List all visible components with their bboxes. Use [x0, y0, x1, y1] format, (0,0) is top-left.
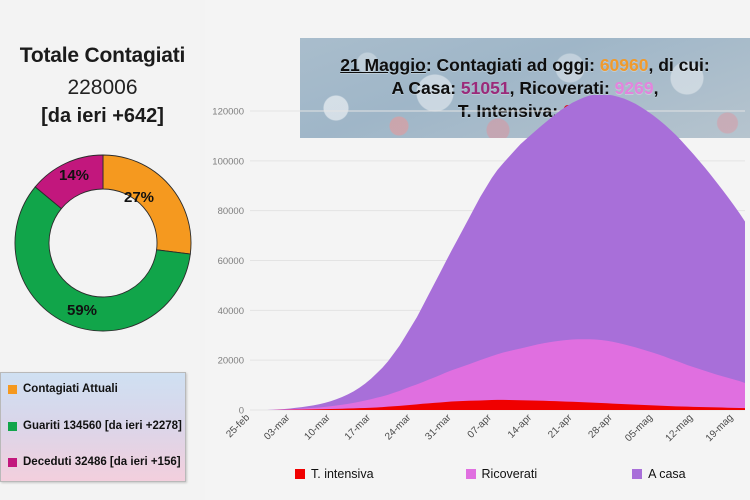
banner-line1-suffix: , di cui: [649, 55, 710, 75]
banner-total-today: 60960 [600, 55, 649, 75]
x-tick-label: 03-mar [262, 412, 293, 443]
x-tick-label: 31-mar [423, 412, 454, 443]
banner-line-1: 21 Maggio: Contagiati ad oggi: 60960, di… [340, 55, 710, 76]
x-tick-label: 10-mar [303, 412, 334, 443]
chart-legend-swatch-purple [632, 469, 642, 479]
donut-label-guariti: 59% [67, 302, 97, 319]
donut-label-contagiati: 27% [124, 189, 154, 206]
x-tick-label: 05-mag [623, 412, 655, 444]
x-tick-label: 14-apr [506, 412, 535, 441]
y-axis-tick-labels: 020000400006000080000100000120000 [212, 107, 244, 417]
chart-legend: T. intensiva Ricoverati A casa [295, 463, 715, 485]
y-tick-label: 20000 [218, 356, 244, 367]
legend-item-contagiati: Contagiati Attuali [8, 383, 118, 395]
stacked-area-chart: 020000400006000080000100000120000 25-feb… [205, 95, 750, 500]
area-chart-svg: 020000400006000080000100000120000 25-feb… [205, 95, 750, 500]
covid-dashboard: Totale Contagiati 228006 [da ieri +642] … [0, 0, 750, 500]
x-tick-label: 24-mar [383, 412, 414, 443]
legend-label-deceduti: Deceduti 32486 [da ieri +156] [23, 456, 181, 468]
x-tick-label: 21-apr [546, 412, 575, 441]
legend-swatch-magenta [8, 458, 17, 467]
y-tick-label: 40000 [218, 306, 244, 317]
y-tick-label: 120000 [212, 107, 244, 118]
chart-legend-item-acasa: A casa [632, 467, 686, 481]
chart-legend-item-intensiva: T. intensiva [295, 467, 374, 481]
chart-legend-label-ricoverati: Ricoverati [482, 467, 538, 481]
total-cases-delta: [da ieri +642] [0, 105, 205, 128]
area-series-group [250, 95, 745, 410]
chart-legend-swatch-red [295, 469, 305, 479]
chart-legend-swatch-pink [466, 469, 476, 479]
summary-panel: Totale Contagiati 228006 [da ieri +642] … [0, 0, 205, 500]
x-tick-label: 07-apr [466, 412, 495, 441]
legend-label-contagiati: Contagiati Attuali [23, 383, 118, 395]
legend-item-guariti: Guariti 134560 [da ieri +2278] [8, 420, 182, 432]
x-tick-label: 19-mag [704, 412, 736, 444]
donut-chart-svg: 27% 59% 14% [12, 142, 194, 340]
page-title: Totale Contagiati [0, 44, 205, 68]
chart-legend-label-acasa: A casa [648, 467, 686, 481]
legend-swatch-orange [8, 385, 17, 394]
banner-date: 21 Maggio [340, 55, 426, 75]
banner-line1-prefix: : Contagiati ad oggi: [426, 55, 600, 75]
y-tick-label: 100000 [212, 156, 244, 167]
donut-chart: 27% 59% 14% [12, 142, 194, 340]
x-axis-tick-labels: 25-feb03-mar10-mar17-mar24-mar31-mar07-a… [224, 412, 735, 444]
x-tick-label: 17-mar [343, 412, 374, 443]
legend-swatch-green [8, 422, 17, 431]
total-cases-value: 228006 [0, 76, 205, 100]
y-tick-label: 60000 [218, 256, 244, 267]
x-tick-label: 28-apr [587, 412, 616, 441]
chart-legend-label-intensiva: T. intensiva [311, 467, 374, 481]
summary-legend: Contagiati Attuali Guariti 134560 [da ie… [0, 372, 186, 482]
legend-label-guariti: Guariti 134560 [da ieri +2278] [23, 420, 182, 432]
legend-item-deceduti: Deceduti 32486 [da ieri +156] [8, 456, 181, 468]
donut-label-deceduti: 14% [59, 167, 89, 184]
chart-legend-item-ricoverati: Ricoverati [466, 467, 538, 481]
y-tick-label: 80000 [218, 206, 244, 217]
x-tick-label: 12-mag [664, 412, 696, 444]
